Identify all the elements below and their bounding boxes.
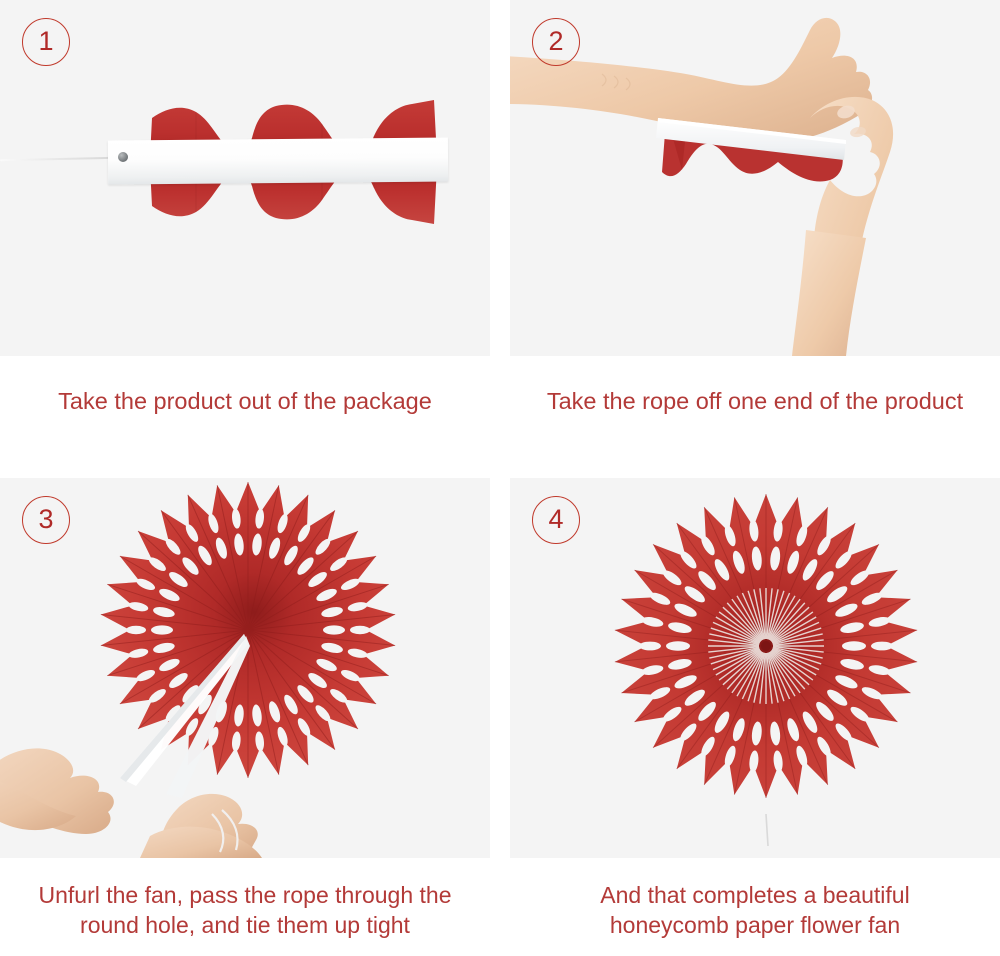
step-photo-1: 1 [0, 0, 490, 356]
step-card-3: 3 [0, 478, 490, 956]
white-cardboard-strip [108, 138, 448, 185]
hands-removing-rope-illustration [510, 0, 1000, 356]
step-caption-text-2: Take the rope off one end of the product [547, 386, 963, 417]
step-photo-2: 2 [510, 0, 1000, 356]
steps-grid: 1 [0, 0, 1000, 956]
step-caption-1: Take the product out of the package [0, 356, 490, 478]
step-number-badge-3: 3 [22, 496, 70, 544]
step-number-badge-2: 2 [532, 18, 580, 66]
step-card-2: 2 [510, 0, 1000, 478]
step-card-1: 1 [0, 0, 490, 478]
step-number-badge-1: 1 [22, 18, 70, 66]
step-photo-4: 4 [510, 478, 1000, 858]
step-number-badge-4: 4 [532, 496, 580, 544]
step-card-4: 4 [510, 478, 1000, 956]
step-caption-3: Unfurl the fan, pass the rope through th… [0, 858, 490, 956]
finished-fan-illustration [510, 478, 1000, 858]
step-caption-2: Take the rope off one end of the product [510, 356, 1000, 478]
step-caption-text-1: Take the product out of the package [58, 386, 432, 417]
instruction-sheet: 1 [0, 0, 1000, 956]
grommet-hole [118, 152, 128, 162]
step-caption-text-4: And that completes a beautiful honeycomb… [600, 880, 909, 941]
unfurled-fan-with-hands-illustration [0, 478, 490, 858]
step-photo-3: 3 [0, 478, 490, 858]
step-caption-text-3: Unfurl the fan, pass the rope through th… [39, 880, 452, 941]
step-caption-4: And that completes a beautiful honeycomb… [510, 858, 1000, 956]
